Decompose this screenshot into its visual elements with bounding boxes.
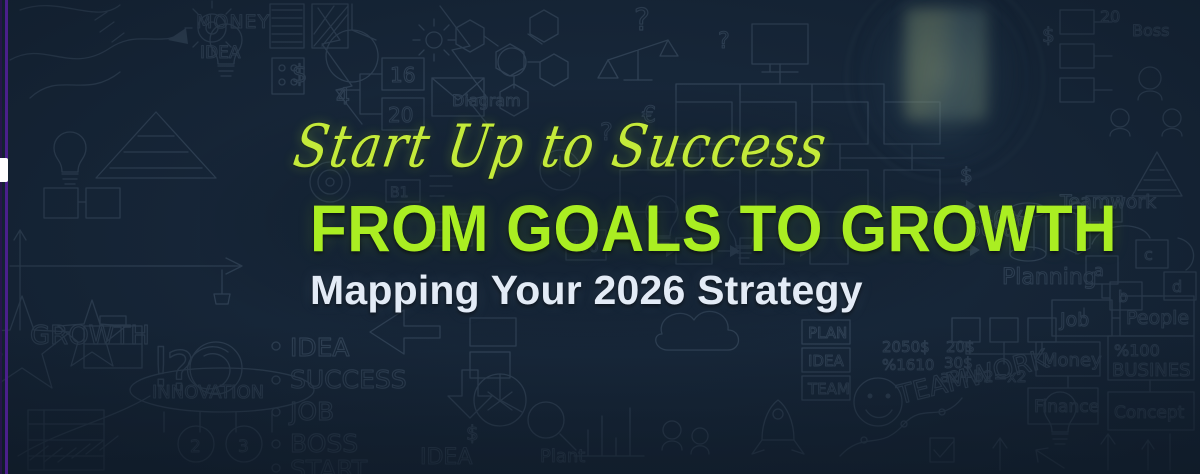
svg-text:$: $ — [960, 163, 973, 187]
left-edge-purple-bar — [5, 0, 8, 474]
svg-text:%100: %100 — [1114, 341, 1160, 360]
svg-text:?: ? — [634, 3, 650, 38]
svg-text:TEAM: TEAM — [807, 380, 850, 398]
svg-text:€: € — [642, 103, 656, 128]
svg-text:Teamwork: Teamwork — [1059, 191, 1156, 213]
svg-text:$: $ — [1042, 23, 1055, 47]
doodle-background: MONEY IDEA 16 20 4 — [0, 0, 1200, 474]
svg-text:16: 16 — [390, 63, 415, 87]
left-edge-dark-bar — [0, 0, 2, 474]
svg-text:?: ? — [600, 118, 613, 146]
svg-text:Money: Money — [1042, 350, 1102, 371]
svg-text:4: 4 — [336, 85, 350, 110]
svg-text:SUCCESS: SUCCESS — [290, 365, 407, 394]
svg-text:$: $ — [292, 60, 307, 88]
svg-text:a: a — [1094, 261, 1104, 280]
svg-text:$: $ — [466, 421, 479, 445]
left-edge-notch — [0, 158, 8, 182]
svg-text:Concept: Concept — [1114, 403, 1185, 423]
svg-text:BUSINES: BUSINES — [1112, 360, 1191, 381]
svg-text:BOSS: BOSS — [290, 429, 358, 458]
svg-text:20: 20 — [388, 103, 413, 127]
svg-text:400: 400 — [570, 238, 599, 256]
svg-text:Boss: Boss — [1132, 21, 1169, 40]
svg-text:Finance: Finance — [1034, 397, 1099, 417]
svg-text:20: 20 — [1100, 7, 1120, 26]
svg-text:JOB: JOB — [288, 397, 334, 426]
svg-text:PLAN: PLAN — [808, 324, 847, 342]
svg-text:%1610: %1610 — [882, 356, 934, 374]
doodle-artwork: MONEY IDEA 16 20 4 — [0, 0, 1200, 474]
svg-text:START: START — [290, 455, 368, 474]
svg-text:Planning: Planning — [1002, 265, 1097, 290]
svg-text:IDEA: IDEA — [290, 333, 350, 362]
svg-text:60%: 60% — [968, 217, 1012, 241]
svg-text:Plant: Plant — [540, 446, 585, 467]
svg-text:2: 2 — [190, 437, 201, 457]
svg-text:d: d — [1172, 277, 1182, 296]
svg-text:3: 3 — [238, 437, 249, 457]
event-banner: MONEY IDEA 16 20 4 — [0, 0, 1200, 474]
svg-text:People: People — [1126, 307, 1189, 329]
svg-text:Diagram: Diagram — [452, 91, 521, 110]
svg-text:c: c — [1144, 245, 1153, 264]
svg-text:2050$: 2050$ — [882, 338, 930, 356]
svg-text:IDEA: IDEA — [420, 445, 472, 470]
svg-text:Job: Job — [1059, 309, 1089, 331]
svg-text:IDEA: IDEA — [808, 352, 844, 370]
svg-text:B1: B1 — [390, 185, 409, 201]
svg-text:INNOVATION: INNOVATION — [152, 382, 264, 403]
svg-text:?: ? — [718, 29, 730, 54]
